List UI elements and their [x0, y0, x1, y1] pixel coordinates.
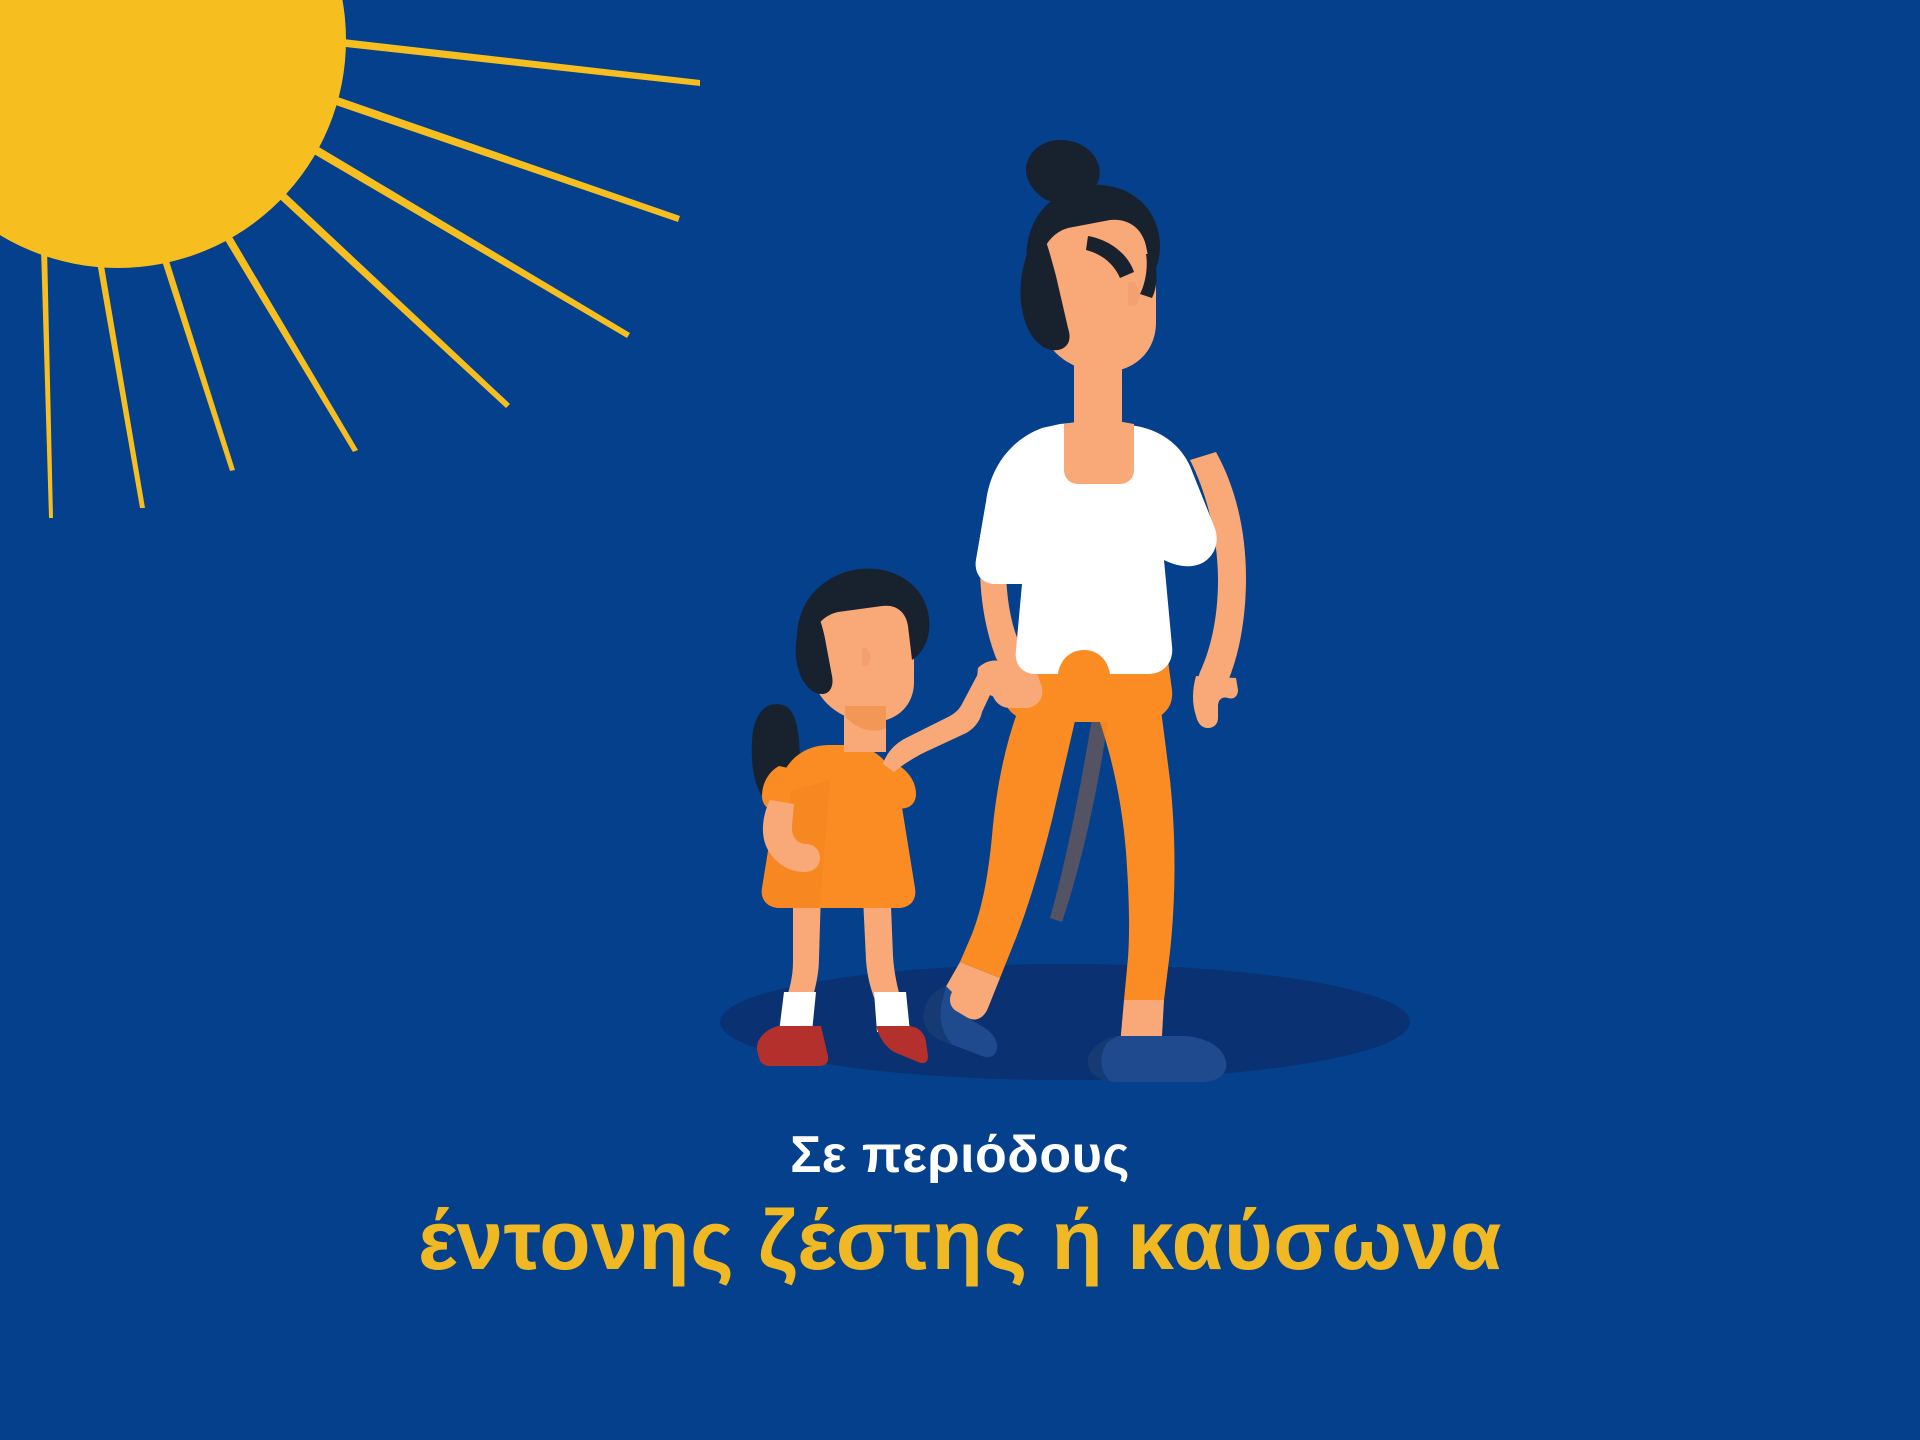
child-shoe-back	[757, 1026, 828, 1066]
woman-shoe-front	[1088, 1036, 1226, 1082]
heat-advisory-poster: Σε περιόδους έντονης ζέστης ή καύσωνα	[0, 0, 1920, 1440]
illustration-canvas	[0, 0, 1920, 1440]
woman-hand-left	[992, 672, 1042, 708]
